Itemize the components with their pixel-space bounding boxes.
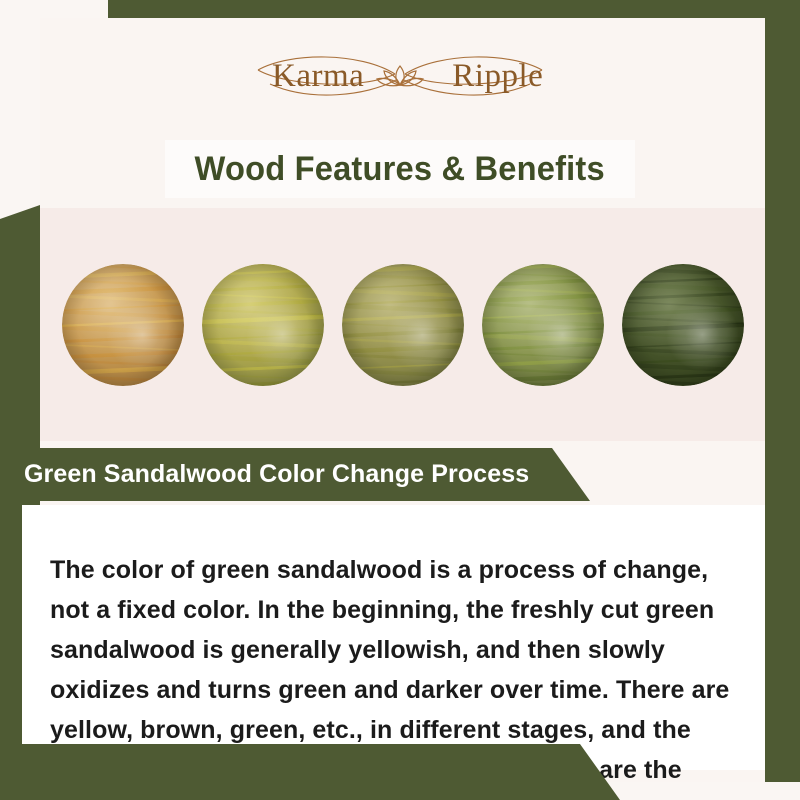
poster-canvas: Karma Ripple Wood Features & Benefits bbox=[0, 0, 800, 800]
bead-highlight-3 bbox=[342, 264, 464, 386]
bead-stage-5 bbox=[622, 264, 744, 386]
bead-highlight-1 bbox=[62, 264, 184, 386]
bead-highlight-4 bbox=[482, 264, 604, 386]
frame-border-right bbox=[765, 0, 800, 782]
bead-highlight-5 bbox=[622, 264, 744, 386]
bead-stage-1 bbox=[62, 264, 184, 386]
bead-highlight-2 bbox=[202, 264, 324, 386]
section-banner: Green Sandalwood Color Change Process bbox=[0, 448, 590, 501]
bead-strip bbox=[40, 208, 765, 441]
frame-border-bottom bbox=[0, 744, 620, 800]
section-banner-title: Green Sandalwood Color Change Process bbox=[24, 460, 529, 489]
page-title: Wood Features & Benefits bbox=[195, 150, 605, 189]
bead-stage-4 bbox=[482, 264, 604, 386]
bead-stage-2 bbox=[202, 264, 324, 386]
title-box: Wood Features & Benefits bbox=[165, 140, 635, 198]
body-panel: The color of green sandalwood is a proce… bbox=[22, 505, 765, 770]
bead-stage-3 bbox=[342, 264, 464, 386]
bead-row bbox=[40, 208, 765, 441]
frame-border-top bbox=[108, 0, 800, 18]
